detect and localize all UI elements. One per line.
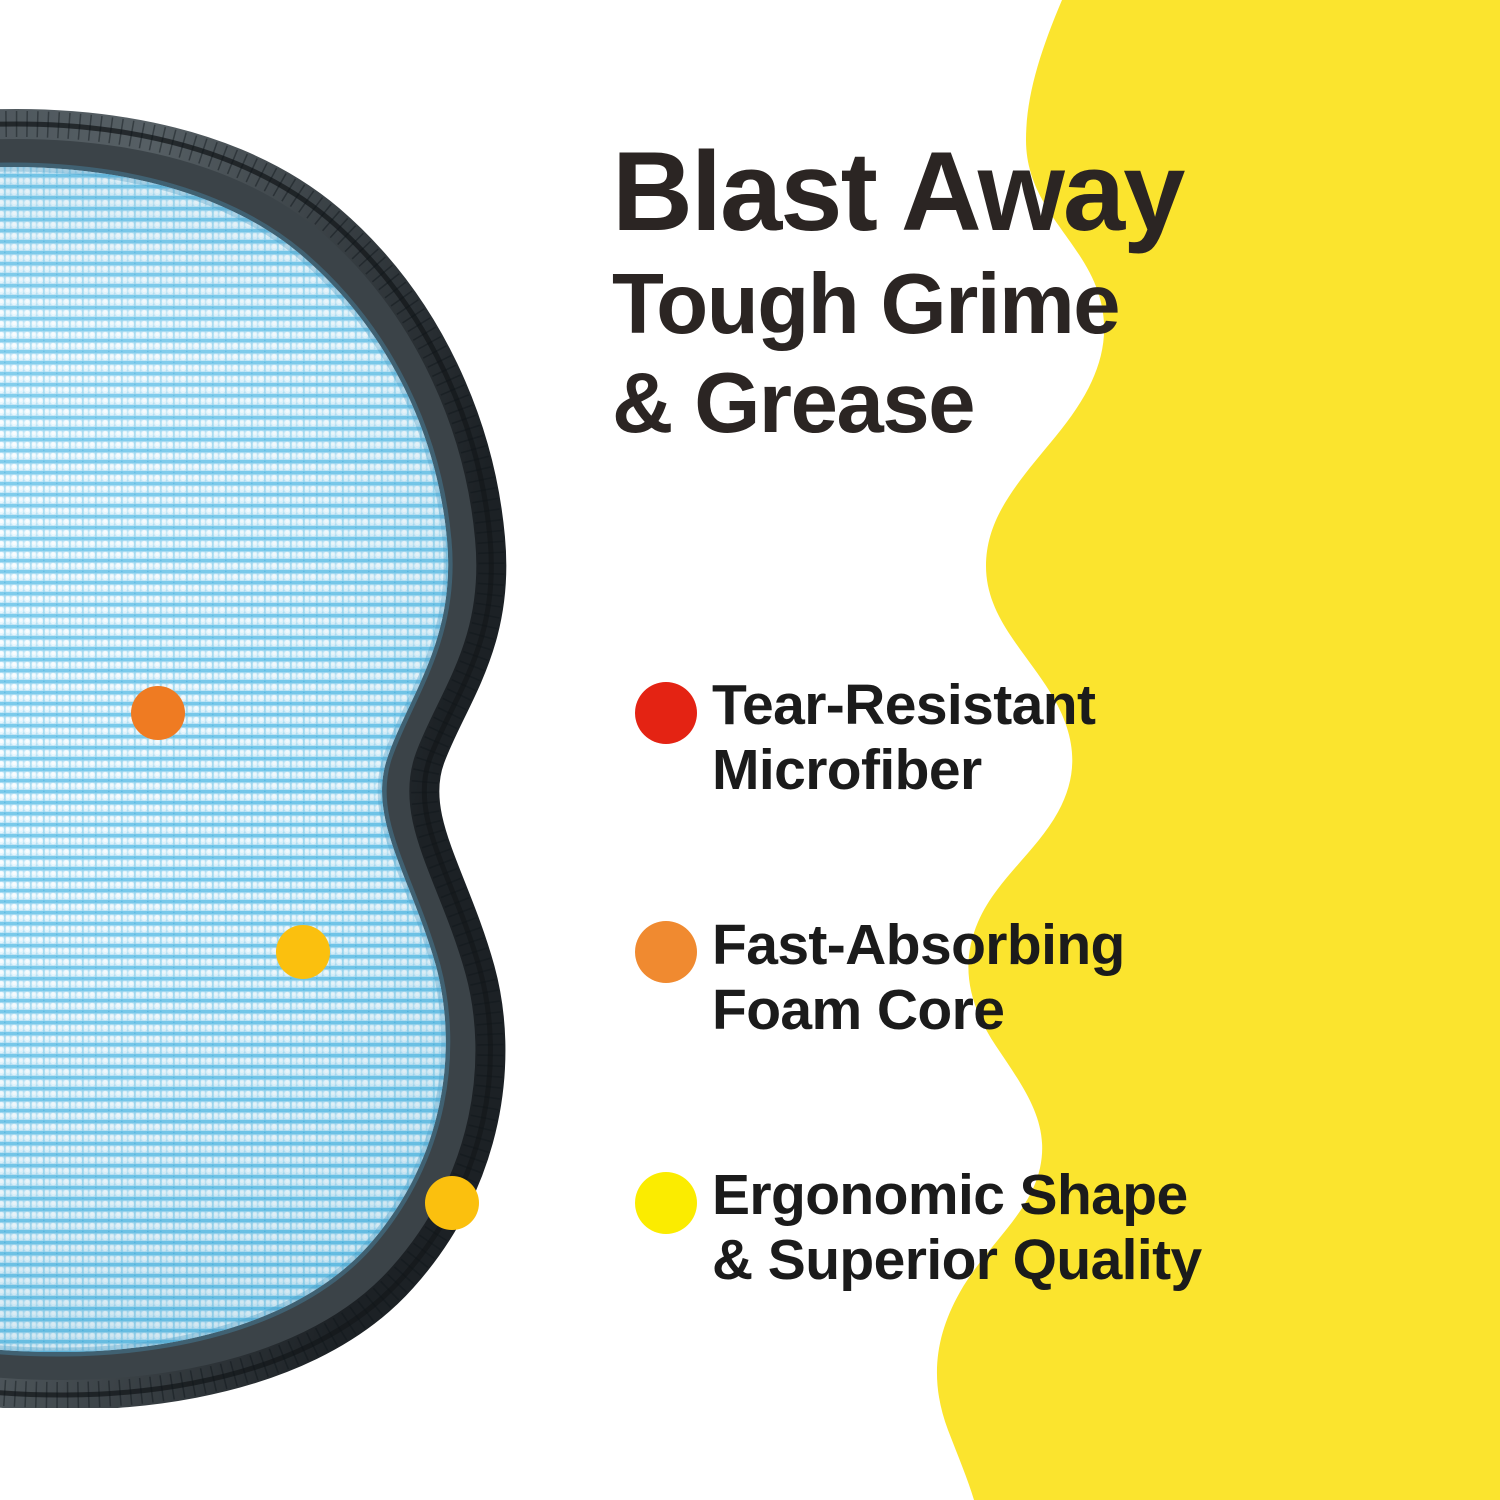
headline-block: Blast Away Tough Grime & Grease — [612, 136, 1183, 453]
feature-label-ergonomic-shape-superior-quality: Ergonomic Shape & Superior Quality — [712, 1163, 1202, 1293]
product-infographic: Blast Away Tough Grime & Grease Tear-Res… — [0, 0, 1500, 1500]
headline-line-2: Tough Grime — [612, 256, 1183, 355]
headline-line-1: Blast Away — [612, 136, 1183, 248]
endpoint-dot-1 — [635, 921, 697, 983]
endpoint-dot-0 — [635, 682, 697, 744]
callout-connector-2 — [425, 1172, 697, 1234]
anchor-dot-1 — [276, 925, 330, 979]
anchor-dot-0 — [131, 686, 185, 740]
feature-label-fast-absorbing-foam-core: Fast-Absorbing Foam Core — [712, 913, 1125, 1043]
endpoint-dot-2 — [635, 1172, 697, 1234]
headline-line-3: & Grease — [612, 355, 1183, 454]
callout-connector-1 — [276, 921, 697, 983]
anchor-dot-2 — [425, 1176, 479, 1230]
feature-label-tear-resistant-microfiber: Tear-Resistant Microfiber — [712, 673, 1095, 803]
callout-connector-0 — [131, 682, 697, 744]
